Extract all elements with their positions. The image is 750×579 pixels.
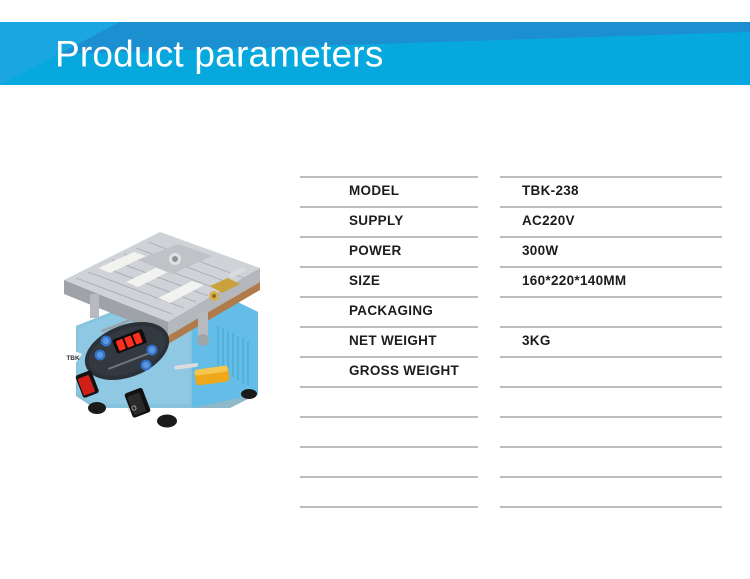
value-cell: TBK-238 [500,176,722,206]
value-cell: 3KG [500,326,722,356]
label-cell [340,386,478,416]
table-row: POWER 300W [300,236,722,266]
page-title: Product parameters [55,35,384,72]
value-cell [500,356,722,386]
label-text: PACKAGING [349,304,433,318]
label-cell: SIZE [340,266,478,296]
product-parameters-page: Product parameters [0,0,750,579]
row-index-cell [300,266,340,296]
row-index-cell [300,356,340,386]
product-image: I O TBK [42,208,274,430]
value-text: AC220V [522,214,575,228]
column-gap [478,386,500,416]
label-cell [340,446,478,476]
row-index-cell [300,236,340,266]
label-text: GROSS WEIGHT [349,364,459,378]
label-cell: GROSS WEIGHT [340,356,478,386]
value-text: 300W [522,244,558,258]
row-index-cell [300,206,340,236]
table-row: PACKAGING [300,296,722,326]
column-gap [478,206,500,236]
table-row [300,386,722,416]
label-text: POWER [349,244,402,258]
value-cell [500,476,722,506]
value-text: 160*220*140MM [522,274,626,288]
label-cell [340,476,478,506]
label-cell: PACKAGING [340,296,478,326]
row-index-cell [300,326,340,356]
label-cell [340,506,478,508]
value-cell [500,296,722,326]
column-gap [478,266,500,296]
value-cell: 160*220*140MM [500,266,722,296]
column-gap [478,476,500,506]
page-banner: Product parameters [0,22,750,85]
row-index-cell [300,386,340,416]
column-gap [478,356,500,386]
column-gap [478,506,500,508]
specifications-table: MODEL TBK-238 SUPPLY AC220V POWER [300,176,722,506]
row-index-cell [300,476,340,506]
value-text: TBK-238 [522,184,579,198]
column-gap [478,416,500,446]
column-gap [478,296,500,326]
column-gap [478,446,500,476]
column-gap [478,176,500,206]
value-cell: AC220V [500,206,722,236]
label-cell: POWER [340,236,478,266]
value-cell [500,506,722,508]
label-cell: SUPPLY [340,206,478,236]
value-cell: 300W [500,236,722,266]
machine-illustration: I O TBK [42,208,274,430]
value-cell [500,386,722,416]
svg-text:TBK: TBK [66,355,80,362]
label-cell: NET WEIGHT [340,326,478,356]
row-index-cell [300,446,340,476]
label-text: SIZE [349,274,380,288]
label-cell: MODEL [340,176,478,206]
value-cell [500,416,722,446]
table-row: MODEL TBK-238 [300,176,722,206]
row-index-cell [300,296,340,326]
label-text: NET WEIGHT [349,334,437,348]
label-cell [340,416,478,446]
table-row: SUPPLY AC220V [300,206,722,236]
row-index-cell [300,506,340,508]
value-cell [500,446,722,476]
column-gap [478,326,500,356]
label-text: MODEL [349,184,399,198]
table-row: SIZE 160*220*140MM [300,266,722,296]
row-index-cell [300,176,340,206]
value-text: 3KG [522,334,551,348]
row-index-cell [300,416,340,446]
column-gap [478,236,500,266]
label-text: SUPPLY [349,214,404,228]
table-row [300,446,722,476]
table-row: GROSS WEIGHT [300,356,722,386]
table-row [300,416,722,446]
table-row [300,476,722,506]
table-row: NET WEIGHT 3KG [300,326,722,356]
